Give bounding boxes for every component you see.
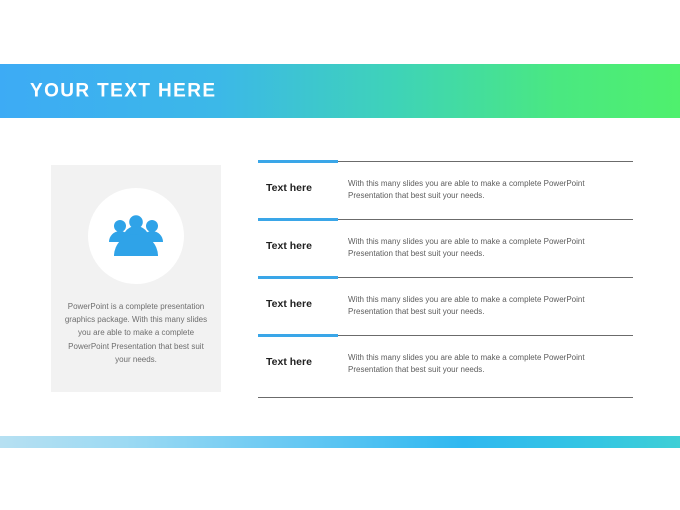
row-divider (258, 276, 633, 279)
list-item[interactable]: Text here With this many slides you are … (258, 160, 633, 218)
accent-segment (258, 276, 338, 279)
list-item-body: With this many slides you are able to ma… (348, 352, 631, 377)
header-banner: YOUR TEXT HERE (0, 64, 680, 118)
page-title: YOUR TEXT HERE (30, 82, 216, 101)
list-item[interactable]: Text here With this many slides you are … (258, 276, 633, 334)
list-item[interactable]: Text here With this many slides you are … (258, 334, 633, 392)
icon-circle (88, 188, 184, 284)
row-divider (258, 160, 633, 163)
row-divider (258, 334, 633, 337)
list-bottom-divider (258, 397, 633, 398)
info-card: PowerPoint is a complete presentation gr… (51, 165, 221, 392)
accent-segment (258, 218, 338, 221)
accent-segment (258, 334, 338, 337)
feature-list: Text here With this many slides you are … (258, 160, 633, 392)
footer-accent-bar (0, 436, 680, 448)
list-item-label: Text here (266, 183, 312, 194)
list-item-body: With this many slides you are able to ma… (348, 236, 631, 261)
group-people-icon (108, 215, 164, 257)
list-item[interactable]: Text here With this many slides you are … (258, 218, 633, 276)
list-item-body: With this many slides you are able to ma… (348, 178, 631, 203)
slide-canvas: YOUR TEXT HERE PowerPoint is a complete … (0, 0, 680, 510)
card-description: PowerPoint is a complete presentation gr… (61, 300, 211, 366)
list-item-label: Text here (266, 299, 312, 310)
list-item-label: Text here (266, 241, 312, 252)
accent-segment (258, 160, 338, 163)
list-item-label: Text here (266, 357, 312, 368)
row-divider (258, 218, 633, 221)
list-item-body: With this many slides you are able to ma… (348, 294, 631, 319)
